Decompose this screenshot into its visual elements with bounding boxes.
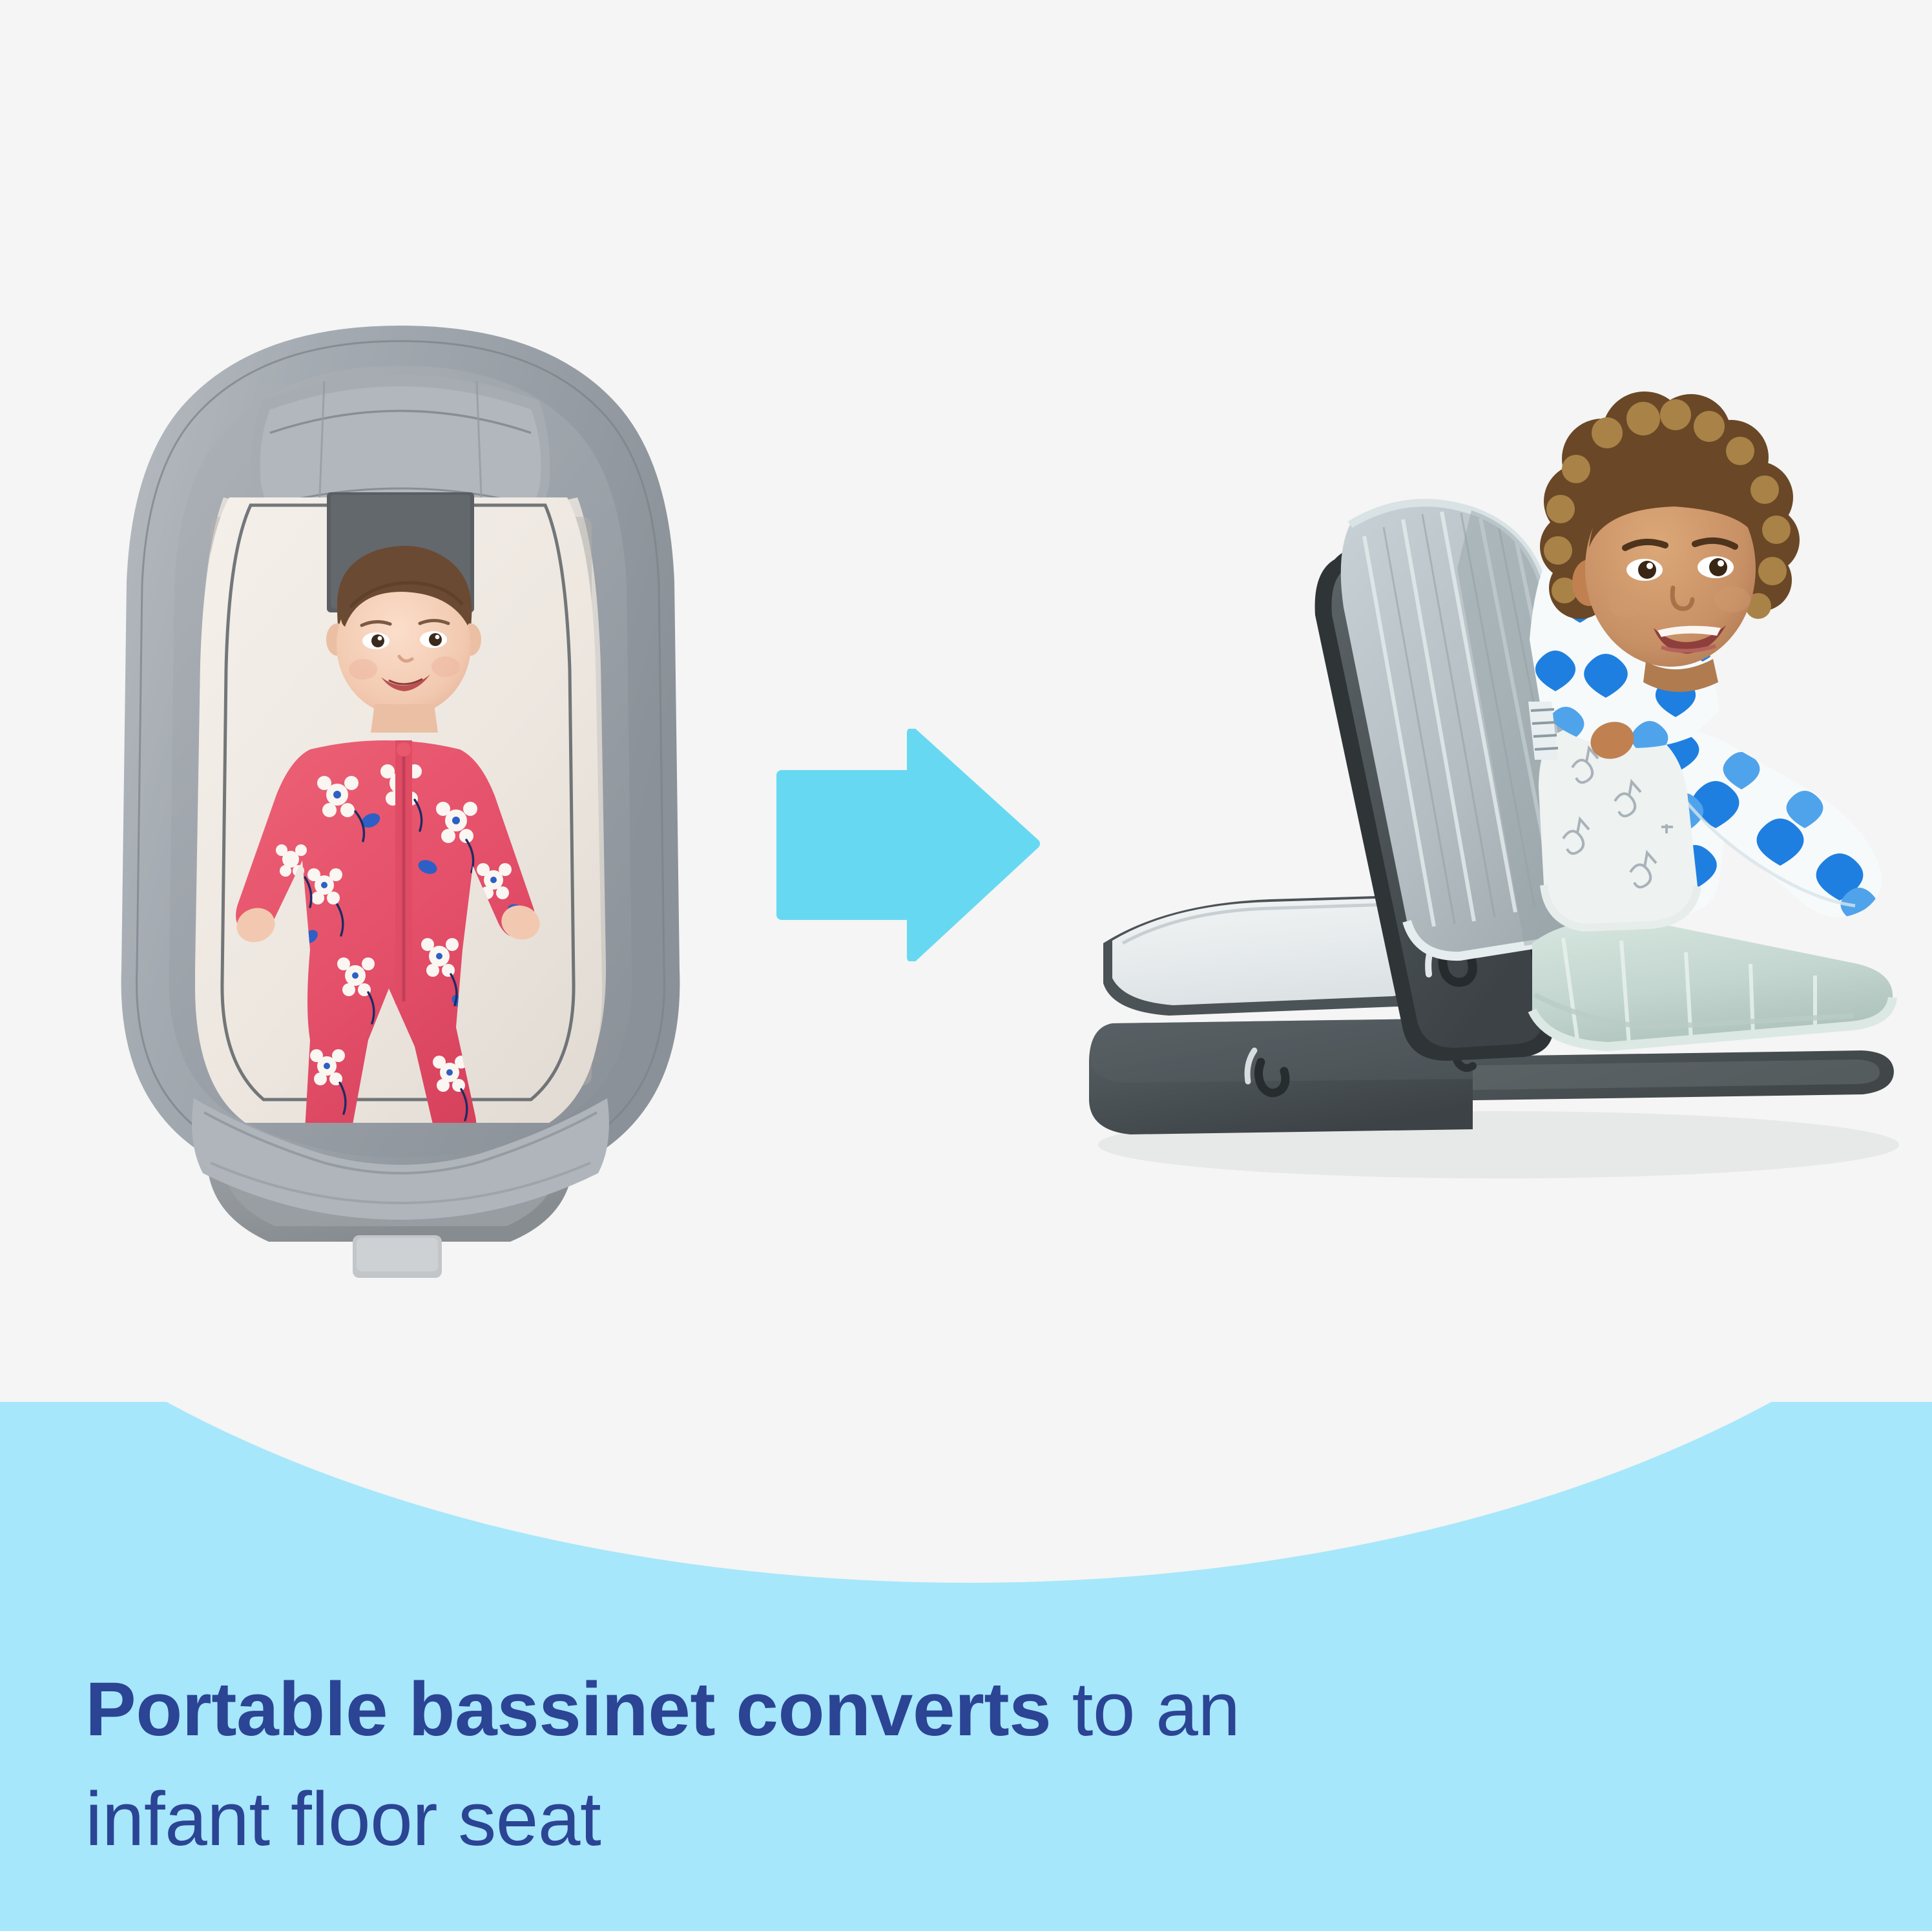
caption-line-2: infant floor seat [85, 1765, 1636, 1875]
feature-caption: Portable bassinet converts to an infant … [85, 1655, 1636, 1875]
conversion-arrow [773, 729, 1044, 961]
product-feature-poster: Portable bassinet converts to an infant … [0, 0, 1932, 1931]
band-curve-cutout [0, 1402, 1932, 1583]
bassinet-product-image [97, 304, 704, 1311]
caption-line-1: Portable bassinet converts to an [85, 1655, 1636, 1765]
floor-seat-product-image [1072, 375, 1912, 1253]
caption-regular-text: to an [1051, 1667, 1240, 1752]
arrow-right-icon [773, 729, 1044, 961]
caption-bold-text: Portable bassinet converts [85, 1667, 1051, 1752]
